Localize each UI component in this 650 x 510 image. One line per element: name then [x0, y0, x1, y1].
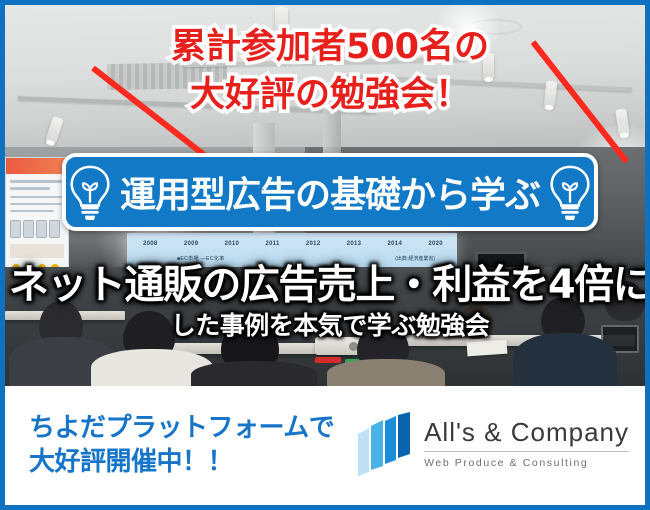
- year-label: 2014: [388, 241, 403, 247]
- wall-poster: [5, 157, 69, 285]
- screen-legend: ■EC市場 ―EC化率: [177, 255, 225, 262]
- year-label: 2010: [225, 241, 240, 247]
- audience-body: [191, 361, 317, 386]
- footer-line2: 大好評開催中！！: [29, 446, 334, 479]
- footer-line1: ちよだプラットフォームで: [29, 412, 334, 445]
- poster-line: [10, 187, 50, 190]
- company-logo: All's & Company Web Produce & Consulting: [356, 412, 629, 476]
- papers-on-table: [467, 340, 508, 357]
- marker-pen: [315, 357, 341, 363]
- poster-line: [10, 180, 62, 183]
- poster-line: [10, 196, 64, 198]
- lightbulb-icon: [66, 164, 114, 220]
- ceiling-spotlight: [483, 53, 494, 79]
- audience-body: [327, 359, 445, 386]
- promotional-banner: 2008 2009 2010 2011 2012 2013 2014 2020 …: [0, 0, 650, 510]
- banner-footer: ちよだプラットフォームで 大好評開催中！！ All's & Company We…: [5, 386, 645, 505]
- screen-source-note: (出典:経済産業省): [395, 255, 435, 262]
- poster-block: [10, 244, 64, 258]
- lightbulb-icon: [546, 164, 594, 220]
- footer-copy: ちよだプラットフォームで 大好評開催中！！: [29, 412, 334, 479]
- company-name: All's & Company: [424, 419, 629, 451]
- logo-wordmark: All's & Company Web Produce & Consulting: [424, 419, 629, 468]
- course-title-box: 運用型広告の基礎から学ぶ: [62, 153, 598, 231]
- poster-phone-thumb: [10, 220, 21, 238]
- year-label: 2013: [347, 241, 362, 247]
- year-label: 2011: [265, 241, 279, 247]
- poster-phone-thumb: [36, 220, 47, 238]
- audience-head: [605, 281, 645, 321]
- projector-device: [315, 337, 363, 355]
- screen-year-labels: 2008 2009 2010 2011 2012 2013 2014 2020: [143, 241, 443, 247]
- poster-phone-thumb: [49, 220, 60, 238]
- company-tagline: Web Produce & Consulting: [424, 452, 629, 469]
- year-label: 2008: [143, 241, 158, 247]
- alls-company-logo-mark-icon: [356, 412, 414, 476]
- audience-body: [513, 333, 617, 386]
- poster-line: [10, 210, 54, 212]
- ceiling-spotlight: [275, 7, 288, 37]
- year-label: 2009: [184, 241, 199, 247]
- poster-line: [10, 203, 64, 205]
- course-title-text: 運用型広告の基礎から学ぶ: [120, 166, 540, 218]
- poster-phone-thumb: [23, 220, 34, 238]
- poster-header: [6, 158, 68, 174]
- audience-head: [459, 305, 493, 339]
- year-label: 2020: [428, 241, 443, 247]
- year-label: 2012: [306, 241, 321, 247]
